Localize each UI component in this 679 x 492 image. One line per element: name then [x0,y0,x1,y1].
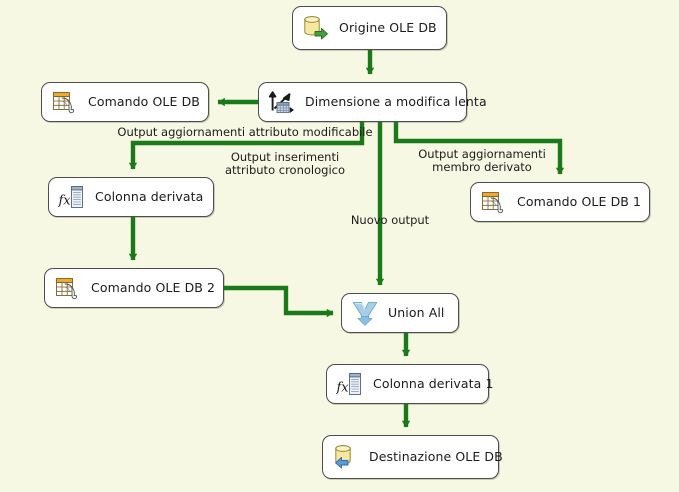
data-flow-canvas[interactable]: Origine OLE DB Comando OLE DB D [0,0,679,492]
edge-label-output-inserimenti-attributo-cronologico: Output inserimenti attributo cronologico [210,151,360,177]
connector-comando-ole-db-2-to-union-all [224,288,333,313]
node-label: Dimensione a modifica lenta [305,96,487,109]
derived-column-icon: fx [58,183,86,211]
node-label: Comando OLE DB 2 [91,282,215,295]
node-label: Origine OLE DB [339,22,437,35]
node-comando-ole-db-2[interactable]: Comando OLE DB 2 [44,268,224,308]
ole-db-command-icon [54,274,82,302]
derived-column-icon: fx [336,370,364,398]
edge-label-output-aggiornamenti-membro-derivato: Output aggiornamenti membro derivato [400,148,564,174]
ole-db-destination-icon [332,443,360,471]
ole-db-command-icon [51,88,79,116]
edge-label-output-aggiornamenti-attributo-modificabile: Output aggiornamenti attributo modificab… [100,126,390,139]
node-label: Comando OLE DB 1 [517,196,641,209]
connector-layer [0,0,679,492]
ole-db-source-icon [302,14,330,42]
node-label: Colonna derivata [95,191,203,204]
svg-text:fx: fx [58,194,71,209]
node-dimensione-a-modifica-lenta[interactable]: Dimensione a modifica lenta [258,82,467,122]
node-comando-ole-db-1[interactable]: Comando OLE DB 1 [470,182,650,222]
svg-text:fx: fx [336,381,349,396]
ole-db-command-icon [480,188,508,216]
node-colonna-derivata-1[interactable]: fx Colonna derivata 1 [326,364,489,404]
node-label: Destinazione OLE DB [369,451,503,464]
node-comando-ole-db[interactable]: Comando OLE DB [41,82,209,122]
edge-label-nuovo-output: Nuovo output [340,214,440,227]
node-label: Colonna derivata 1 [373,378,494,391]
node-union-all[interactable]: Union All [341,293,459,333]
node-destinazione-ole-db[interactable]: Destinazione OLE DB [322,435,499,479]
node-label: Comando OLE DB [88,96,200,109]
slowly-changing-dimension-icon [268,88,296,116]
node-origine-ole-db[interactable]: Origine OLE DB [292,6,447,50]
node-label: Union All [388,307,445,320]
union-all-icon [351,299,379,327]
node-colonna-derivata[interactable]: fx Colonna derivata [48,177,214,217]
